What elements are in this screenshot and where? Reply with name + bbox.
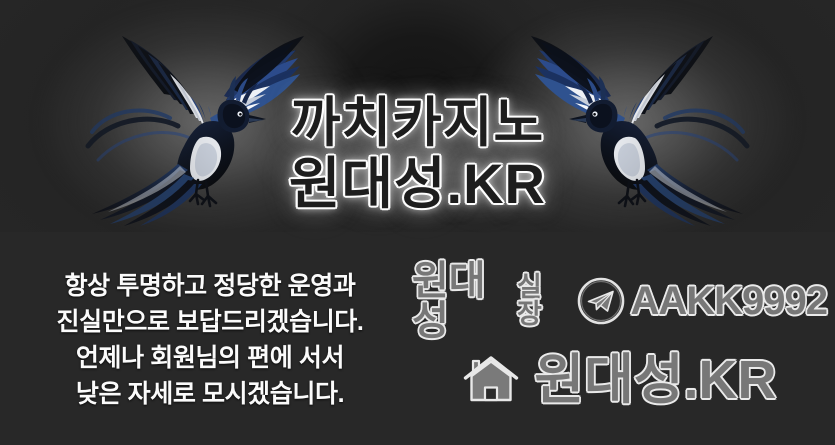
slogan-line-4: 낮은 자세로 모시겠습니다.: [14, 376, 406, 412]
slogan-line-2: 진실만으로 보답드리겠습니다.: [14, 304, 406, 340]
brand-logo-line-2: 원대성.KR: [0, 156, 835, 212]
slogan-block: 항상 투명하고 정당한 운영과 진실만으로 보답드리겠습니다. 언제나 회원님의…: [14, 268, 406, 412]
casino-promo-banner: 까치카지노 원대성.KR 항상 투명하고 정당한 운영과 진실만으로 보답드리겠…: [0, 0, 835, 445]
slogan-line-1: 항상 투명하고 정당한 운영과: [14, 268, 406, 304]
brand-logo-line-1: 까치카지노: [0, 96, 835, 150]
telegram-handle[interactable]: AAKK9992: [630, 281, 827, 321]
telegram-icon[interactable]: [576, 276, 626, 326]
slogan-line-3: 언제나 회원님의 편에 서서: [14, 340, 406, 376]
contact-site-row: 원대성.KR: [412, 334, 827, 426]
manager-role: 실장: [517, 274, 562, 328]
contact-block: 원대성 실장 AAKK9992: [412, 262, 827, 426]
manager-name: 원대성: [412, 261, 513, 341]
brand-logo: 까치카지노 원대성.KR: [0, 96, 835, 212]
site-name[interactable]: 원대성.KR: [534, 353, 776, 407]
home-icon[interactable]: [462, 351, 520, 409]
contact-telegram-row: 원대성 실장 AAKK9992: [412, 262, 827, 340]
